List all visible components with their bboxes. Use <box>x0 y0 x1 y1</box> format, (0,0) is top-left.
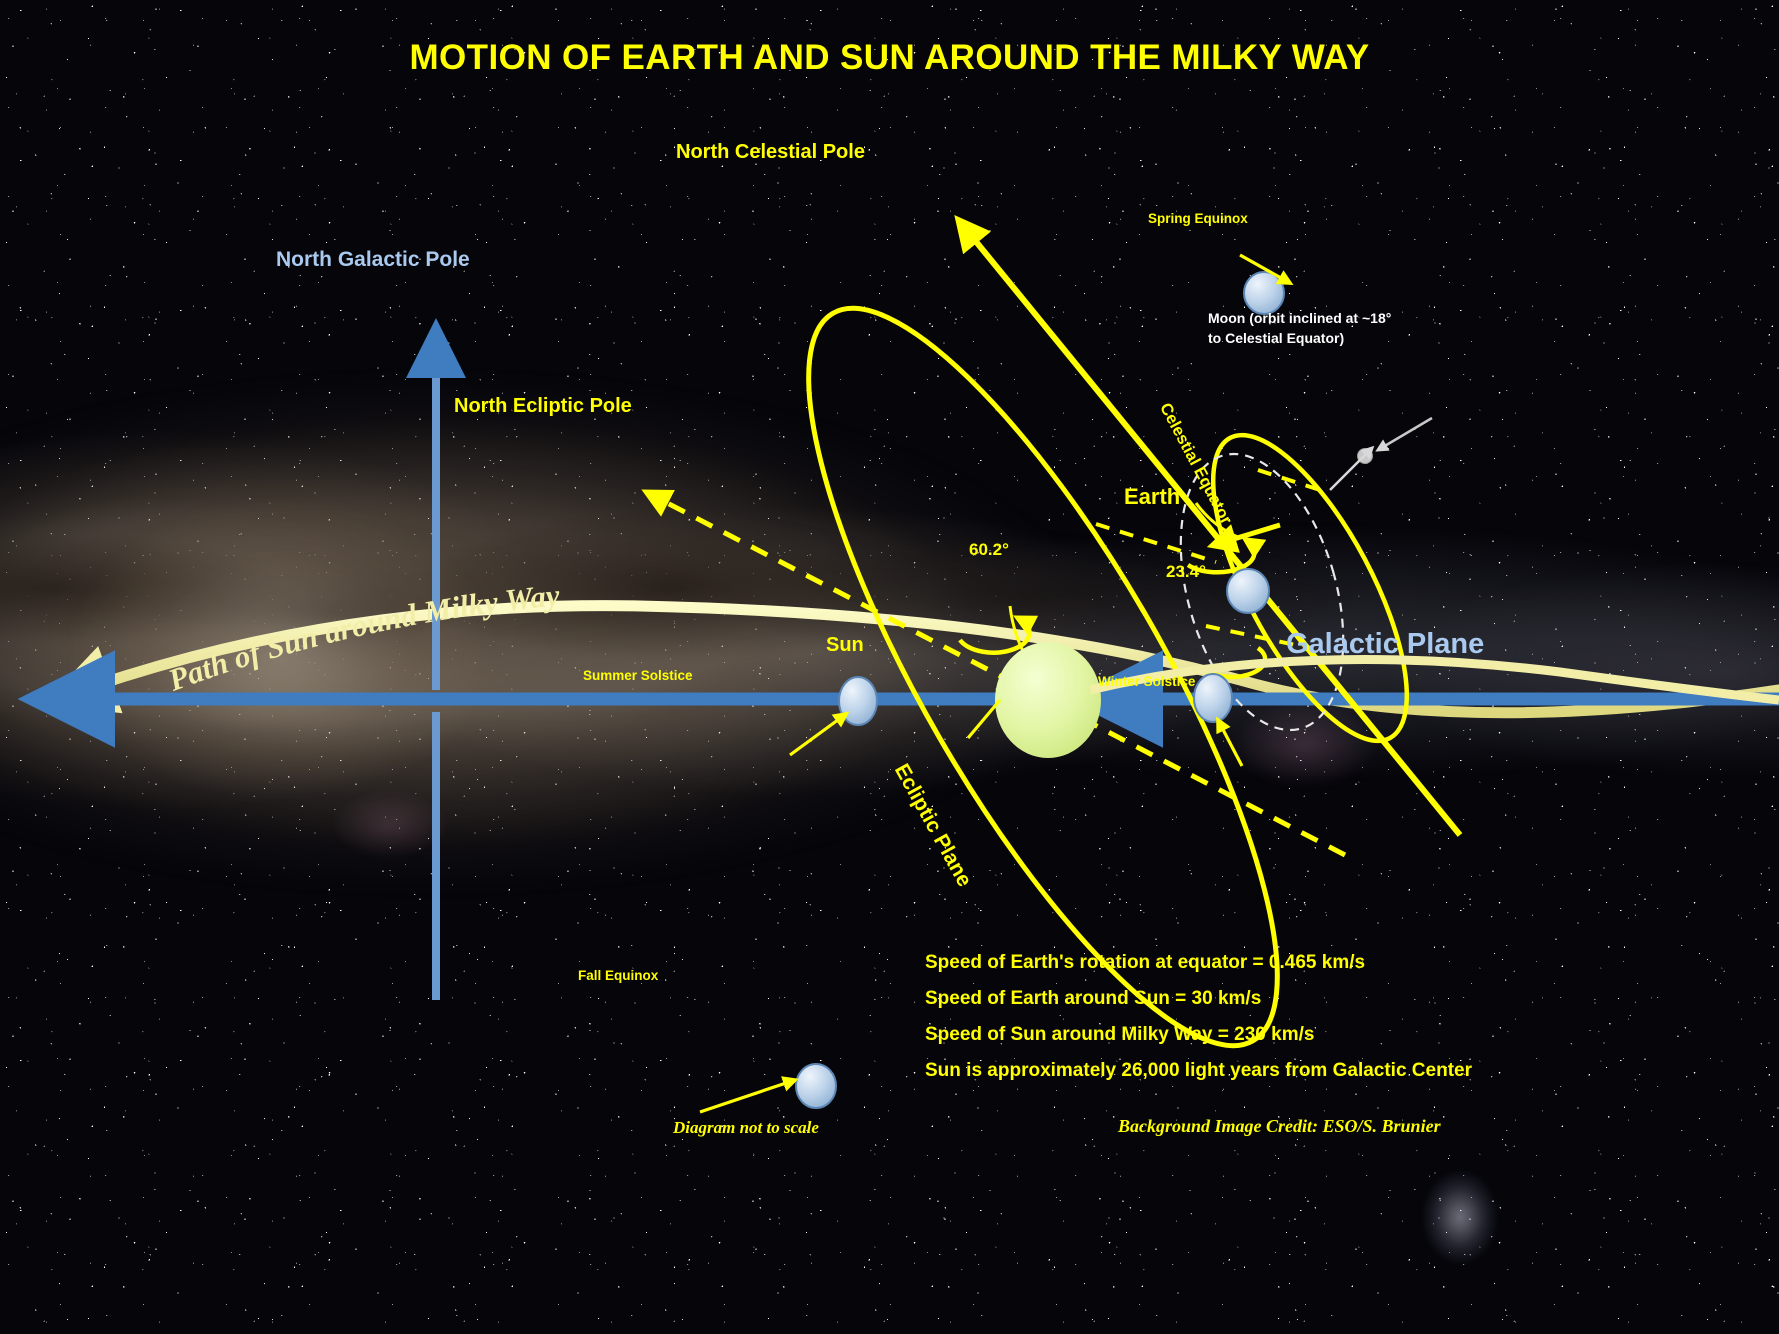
sun-body <box>995 642 1101 758</box>
footnote-image-credit: Background Image Credit: ESO/S. Brunier <box>1118 1116 1441 1137</box>
fact-item: Speed of Sun around Milky Way = 230 km/s <box>925 1024 1472 1046</box>
earth-summer-solstice <box>839 677 877 725</box>
label-north-celestial-pole: North Celestial Pole <box>676 141 865 164</box>
earth-winter-solstice <box>1194 674 1232 722</box>
fact-item: Sun is approximately 26,000 light years … <box>925 1060 1472 1082</box>
label-moon-note: Moon (orbit inclined at ~18° to Celestia… <box>1208 308 1408 349</box>
label-galactic-plane: Galactic Plane <box>1286 628 1484 661</box>
label-north-galactic-pole: North Galactic Pole <box>276 248 470 272</box>
earth-fall-equinox <box>796 1064 836 1108</box>
diagram-canvas: Path of Sun around Milky Way MOTION OF E… <box>0 0 1779 1334</box>
footnote-not-to-scale: Diagram not to scale <box>673 1118 819 1138</box>
page-title: MOTION OF EARTH AND SUN AROUND THE MILKY… <box>0 38 1779 78</box>
diagram-vector-overlay <box>0 0 1779 1334</box>
label-spring-equinox: Spring Equinox <box>1148 211 1248 226</box>
label-winter-solstice: Winter Solstice <box>1098 674 1195 689</box>
label-north-ecliptic-pole: North Ecliptic Pole <box>454 395 632 418</box>
facts-list: Speed of Earth's rotation at equator = 0… <box>925 952 1472 1096</box>
label-summer-solstice: Summer Solstice <box>583 668 693 683</box>
label-angle-galactic-ecliptic: 60.2° <box>969 540 1009 560</box>
fact-item: Speed of Earth's rotation at equator = 0… <box>925 952 1472 974</box>
label-angle-axial-tilt: 23.4° <box>1166 562 1206 582</box>
fact-item: Speed of Earth around Sun = 30 km/s <box>925 988 1472 1010</box>
label-sun: Sun <box>826 634 864 657</box>
label-fall-equinox: Fall Equinox <box>578 968 658 983</box>
label-earth: Earth <box>1124 484 1180 510</box>
moon-leader-line <box>1378 418 1432 450</box>
earth-main <box>1227 569 1269 613</box>
